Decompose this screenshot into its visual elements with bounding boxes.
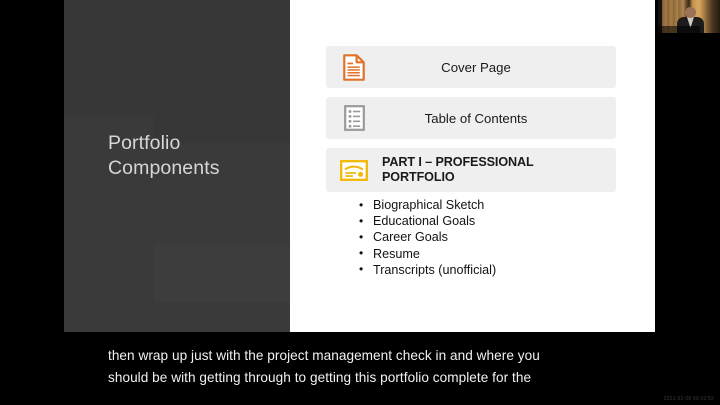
list-item: Resume [359, 246, 496, 262]
slide-title: Portfolio Components [108, 131, 288, 181]
component-row-cover-page: Cover Page [326, 46, 616, 88]
list-item: Educational Goals [359, 213, 496, 229]
video-player-screen: Portfolio Components Cover Pag [0, 0, 720, 405]
webcam-person-head [685, 7, 696, 18]
component-row-table-of-contents: Table of Contents [326, 97, 616, 139]
list-item: Career Goals [359, 229, 496, 245]
timestamp-watermark: 2021-02-08 09:10:52 [664, 396, 714, 402]
panel-shade-block-c [64, 244, 290, 332]
slide-title-panel: Portfolio Components [64, 0, 290, 332]
bullet-list: Biographical Sketch Educational Goals Ca… [359, 197, 496, 278]
component-label: PART I – PROFESSIONAL PORTFOLIO [382, 155, 534, 186]
webcam-thumbnail[interactable] [657, 0, 720, 37]
webcam-bottom-bar [658, 33, 720, 37]
certificate-icon [326, 148, 382, 192]
caption-text: then wrap up just with the project manag… [108, 345, 628, 388]
list-item: Biographical Sketch [359, 197, 496, 213]
slide-content-area: Cover Page Ta [290, 0, 655, 332]
component-label: Cover Page [382, 60, 616, 75]
presentation-slide: Portfolio Components Cover Pag [64, 0, 655, 332]
document-icon [326, 46, 382, 88]
list-icon [326, 97, 382, 139]
webcam-participant-name [658, 26, 700, 33]
component-row-part-one: PART I – PROFESSIONAL PORTFOLIO [326, 148, 616, 192]
component-label: Table of Contents [382, 111, 616, 126]
list-item: Transcripts (unofficial) [359, 262, 496, 278]
